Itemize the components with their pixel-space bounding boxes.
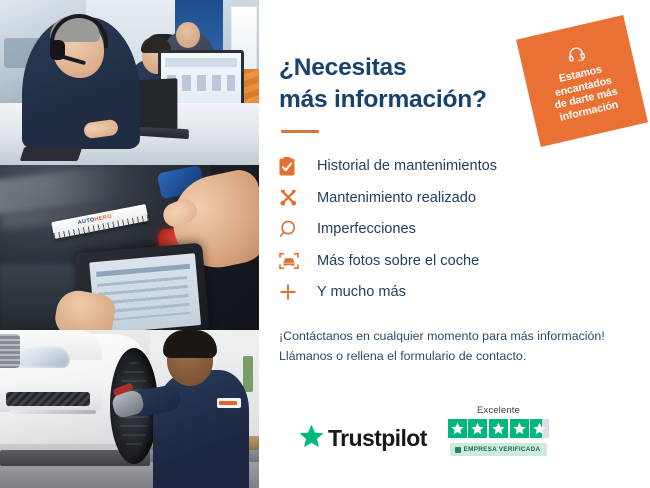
feature-list: Historial de mantenimientos M bbox=[279, 151, 626, 309]
list-item: Historial de mantenimientos bbox=[279, 151, 626, 183]
star-filled bbox=[448, 419, 467, 438]
clipboard-check-icon bbox=[279, 154, 309, 178]
list-item: Mantenimiento realizado bbox=[279, 182, 626, 214]
tools-icon bbox=[279, 186, 309, 210]
headset-icon bbox=[566, 45, 587, 68]
rating-label: Excelente bbox=[477, 405, 520, 416]
verified-label: EMPRESA VERIFICADA bbox=[464, 446, 541, 453]
list-item-label: Y mucho más bbox=[317, 285, 406, 300]
page-title: ¿Necesitas más información? bbox=[279, 52, 509, 116]
content-panel: ¿Necesitas más información? Historial de… bbox=[259, 0, 650, 488]
car-inspection-ruler-photo: AUTOHERO bbox=[0, 165, 259, 330]
contact-line-2: Llámanos o rellena el formulario de cont… bbox=[279, 346, 626, 366]
verified-check-icon bbox=[455, 447, 461, 453]
list-item: Y mucho más bbox=[279, 277, 626, 309]
trustpilot-rating[interactable]: Excelente bbox=[448, 405, 549, 456]
list-item: Más fotos sobre el coche bbox=[279, 245, 626, 277]
star-partial bbox=[530, 419, 549, 438]
information-banner: AUTOHERO bbox=[0, 0, 650, 488]
chrome-trim bbox=[10, 410, 96, 414]
call-center-agents-photo bbox=[0, 0, 259, 165]
support-badge: Estamos encantados de darte más informac… bbox=[516, 15, 648, 147]
photo-column: AUTOHERO bbox=[0, 0, 259, 488]
headline-line-2: más información? bbox=[279, 86, 487, 113]
list-item: Imperfecciones bbox=[279, 214, 626, 246]
plus-icon bbox=[279, 280, 309, 304]
uniform-logo bbox=[217, 398, 241, 408]
list-item-label: Más fotos sobre el coche bbox=[317, 254, 479, 269]
mechanic-wheel-photo bbox=[0, 330, 259, 488]
contact-text: ¡Contáctanos en cualquier momento para m… bbox=[279, 326, 626, 366]
star-filled bbox=[468, 419, 487, 438]
wall-tool bbox=[243, 356, 253, 392]
list-item-label: Mantenimiento realizado bbox=[317, 191, 476, 206]
headline-line-1: ¿Necesitas bbox=[279, 54, 406, 81]
trustpilot-logo[interactable]: Trustpilot bbox=[299, 424, 427, 456]
car-viewfinder-icon bbox=[279, 249, 309, 273]
mechanic-hair bbox=[163, 330, 217, 358]
verified-business-badge: EMPRESA VERIFICADA bbox=[450, 443, 548, 456]
bumper-vent bbox=[6, 392, 90, 406]
list-item-label: Historial de mantenimientos bbox=[317, 159, 497, 174]
magnifier-icon bbox=[279, 217, 309, 241]
desk-tablet bbox=[20, 147, 83, 161]
star-filled bbox=[489, 419, 508, 438]
car-headlight bbox=[16, 346, 70, 368]
trustpilot-wordmark: Trustpilot bbox=[328, 427, 427, 450]
background-agent-head bbox=[176, 22, 200, 48]
title-divider bbox=[281, 130, 319, 133]
star-filled bbox=[510, 419, 529, 438]
list-item-label: Imperfecciones bbox=[317, 222, 416, 237]
car-grille bbox=[0, 334, 20, 368]
star-rating bbox=[448, 419, 549, 438]
ruler-brand-text: AUTOHERO bbox=[77, 214, 112, 226]
contact-line-1: ¡Contáctanos en cualquier momento para m… bbox=[279, 326, 626, 346]
trustpilot-star-icon bbox=[299, 424, 324, 453]
trustpilot-widget[interactable]: Trustpilot Excelente bbox=[299, 405, 549, 456]
